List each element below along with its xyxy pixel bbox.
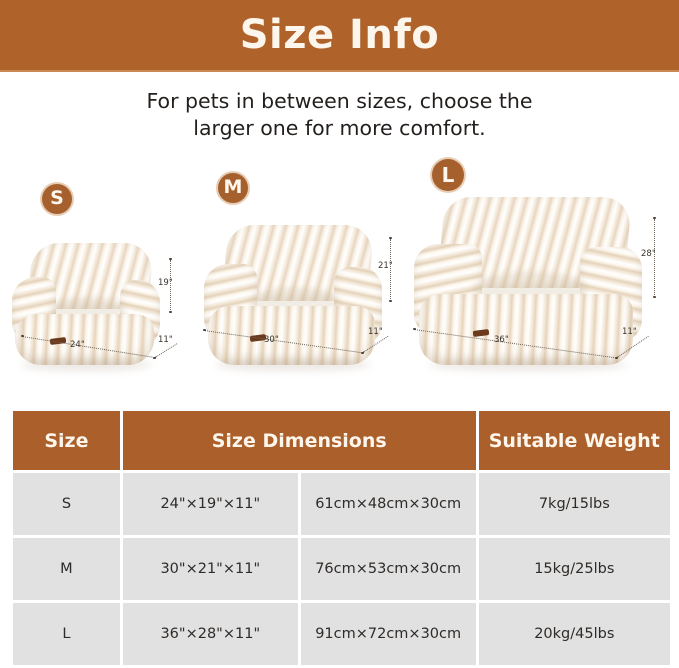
cell-size: L bbox=[13, 603, 120, 665]
sofa-graphic-l bbox=[414, 197, 642, 365]
sofa-seat-base bbox=[208, 306, 375, 365]
dimension-label-depth: 11" bbox=[368, 327, 383, 337]
size-badge-l: L bbox=[432, 159, 464, 191]
product-illustrations: S 19" 24" 11" M bbox=[0, 143, 679, 383]
dimension-tick bbox=[169, 311, 172, 314]
banner-underline bbox=[0, 70, 679, 72]
table-header-size: Size bbox=[13, 411, 120, 470]
cell-inches: 30"×21"×11" bbox=[123, 538, 298, 600]
cell-inches: 36"×28"×11" bbox=[123, 603, 298, 665]
sofa-ground-shadow bbox=[428, 359, 629, 371]
table-header-row: Size Size Dimensions Suitable Weight bbox=[13, 411, 670, 470]
page-title: Size Info bbox=[240, 15, 440, 57]
cell-weight: 15kg/25lbs bbox=[479, 538, 670, 600]
table-row: M 30"×21"×11" 76cm×53cm×30cm 15kg/25lbs bbox=[13, 538, 670, 600]
cell-cm: 76cm×53cm×30cm bbox=[301, 538, 476, 600]
cell-weight: 7kg/15lbs bbox=[479, 473, 670, 535]
dimension-label-depth: 11" bbox=[622, 327, 637, 337]
size-table: Size Size Dimensions Suitable Weight S 2… bbox=[13, 411, 670, 668]
table-row: S 24"×19"×11" 61cm×48cm×30cm 7kg/15lbs bbox=[13, 473, 670, 535]
table-row: L 36"×28"×11" 91cm×72cm×30cm 20kg/45lbs bbox=[13, 603, 670, 665]
dimension-label-height: 21" bbox=[378, 261, 393, 271]
dimension-label-width: 36" bbox=[494, 335, 509, 345]
sofa-graphic-m bbox=[204, 225, 382, 365]
cell-weight: 20kg/45lbs bbox=[479, 603, 670, 665]
dimension-tick bbox=[389, 300, 392, 303]
product-illustration-s: S 19" 24" 11" bbox=[8, 178, 198, 383]
sofa-ground-shadow bbox=[21, 359, 151, 371]
dimension-label-height: 28" bbox=[641, 249, 656, 259]
cell-size: M bbox=[13, 538, 120, 600]
product-illustration-l: L 28" 36" 11" bbox=[408, 151, 676, 383]
product-illustration-m: M 21" 30" 11" bbox=[198, 165, 410, 383]
subtitle-block: For pets in between sizes, choose the la… bbox=[0, 72, 679, 143]
size-badge-s: S bbox=[42, 184, 72, 214]
dimension-label-height: 19" bbox=[158, 278, 173, 288]
cell-inches: 24"×19"×11" bbox=[123, 473, 298, 535]
table-header-dimensions: Size Dimensions bbox=[123, 411, 476, 470]
subtitle: For pets in between sizes, choose the la… bbox=[90, 88, 590, 143]
sofa-ground-shadow bbox=[215, 359, 372, 371]
dimension-label-width: 24" bbox=[70, 340, 85, 350]
cell-cm: 61cm×48cm×30cm bbox=[301, 473, 476, 535]
dimension-label-depth: 11" bbox=[158, 335, 173, 345]
table-header-weight: Suitable Weight bbox=[479, 411, 670, 470]
dimension-tick bbox=[653, 296, 656, 299]
size-badge-m: M bbox=[218, 173, 248, 203]
page-header-banner: Size Info bbox=[0, 0, 679, 72]
subtitle-line-1: For pets in between sizes, choose the bbox=[146, 89, 532, 113]
subtitle-line-2: larger one for more comfort. bbox=[193, 116, 485, 140]
dimension-label-width: 30" bbox=[264, 335, 279, 345]
cell-cm: 91cm×72cm×30cm bbox=[301, 603, 476, 665]
cell-size: S bbox=[13, 473, 120, 535]
